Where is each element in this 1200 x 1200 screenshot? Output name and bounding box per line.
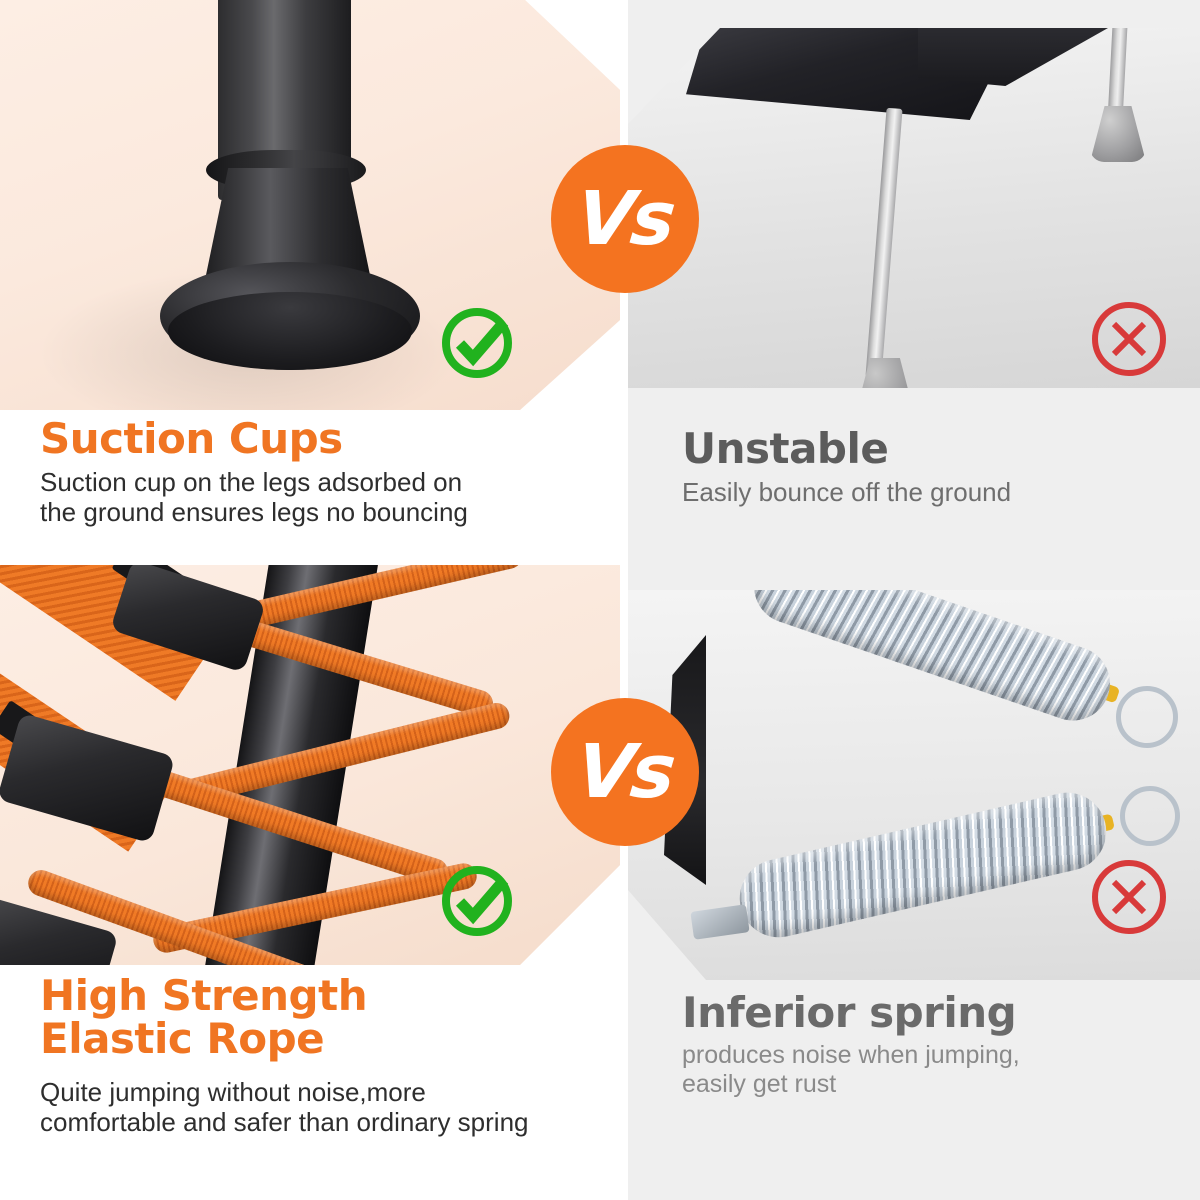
caption-suction-cups: Suction Cups Suction cup on the legs ads… [40,418,600,528]
caption-unstable: Unstable Easily bounce off the ground [682,428,1182,507]
subtitle-line-1: Easily bounce off the ground [682,477,1182,507]
vs-badge-bottom: Vs [551,698,699,846]
panel-title-line-1: High Strength [40,975,610,1018]
subtitle-line-2: easily get rust [682,1070,1182,1099]
caption-inferior-spring: Inferior spring produces noise when jump… [682,992,1182,1099]
vs-label: Vs [573,735,676,809]
coil-spring-upper [744,590,1120,731]
check-circle-icon [438,858,520,940]
rubber-cap-front [854,358,916,388]
vs-badge-top: Vs [551,145,699,293]
photo-elastic-ropes [0,565,620,965]
spring-hook-upper [1116,686,1178,748]
subtitle-line-2: the ground ensures legs no bouncing [40,497,600,527]
subtitle-line-1: produces noise when jumping, [682,1041,1182,1070]
panel-subtitle: Easily bounce off the ground [682,477,1182,507]
suction-cup-lip [168,292,412,370]
panel-subtitle: Suction cup on the legs adsorbed on the … [40,467,600,528]
subtitle-line-1: Suction cup on the legs adsorbed on [40,467,600,497]
photo-suction-cup-leg [0,0,620,410]
panel-subtitle: Quite jumping without noise,more comfort… [40,1077,610,1138]
caption-elastic-rope: High Strength Elastic Rope Quite jumping… [40,975,610,1137]
metal-leg-front [865,108,902,378]
cross-circle-icon [1088,856,1170,938]
trampoline-mat-edge [918,28,1108,86]
subtitle-line-1: Quite jumping without noise,more [40,1077,610,1107]
spring-clip-plate [690,904,749,940]
check-circle-icon [438,300,520,382]
panel-title: Inferior spring [682,992,1182,1035]
cross-circle-icon [1088,298,1170,380]
panel-title: Unstable [682,428,1182,471]
comparison-infographic: Vs Vs Suction Cups Suction cup [0,0,1200,1200]
panel-subtitle: produces noise when jumping, easily get … [682,1041,1182,1100]
rubber-cap-back [1090,106,1146,162]
subtitle-line-2: comfortable and safer than ordinary spri… [40,1107,610,1137]
vs-label: Vs [573,182,676,256]
spring-hook-lower [1120,786,1180,846]
panel-title: High Strength Elastic Rope [40,975,610,1061]
panel-title: Suction Cups [40,418,600,461]
horizontal-divider-left [0,553,620,565]
panel-title-line-2: Elastic Rope [40,1018,610,1061]
coil-spring-lower [732,785,1114,945]
